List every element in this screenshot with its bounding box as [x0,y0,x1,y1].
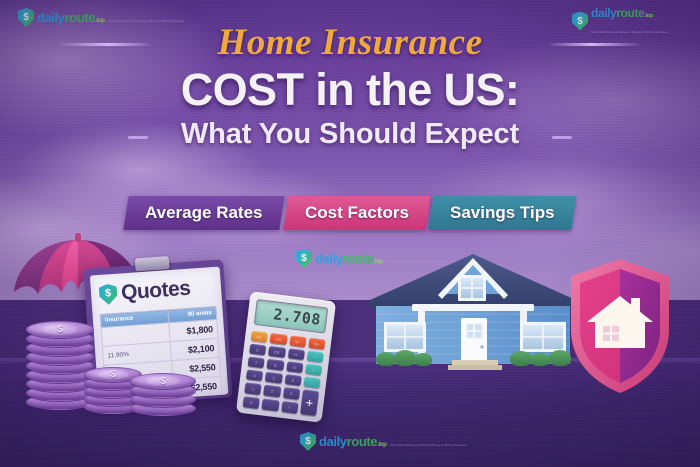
shrub-icon [414,353,432,366]
brand-tld: .top [644,13,652,19]
title-rule-left [58,43,150,46]
calculator-key-8[interactable]: 8 [267,359,284,371]
brand-name-part1: daily [591,6,616,20]
calculator-keypad: MCMRM-M+CCE+/-/789x456-123+0.= [243,331,326,416]
dollar-glyph: $ [300,433,316,452]
shield-house-icon [565,256,675,396]
title-line-3-row: What You Should Expect [0,115,700,154]
coin-symbol: $ [146,376,179,386]
title-rule-right [550,43,642,46]
page-title-secondary: COST in the US: [181,64,520,115]
clipboard-clip [135,256,170,271]
calculator-key-x[interactable]: x [305,363,322,375]
page-title-primary: Home Insurance [217,22,482,63]
title-line-2-row: COST in the US: [0,65,700,115]
brand-tld: .top [377,442,386,448]
calculator-key-[interactable]: - [303,376,320,388]
calculator-key-M[interactable]: M+ [308,338,325,350]
brand-name-part2: route [616,6,644,20]
dollar-glyph: $ [98,283,117,305]
tag-label: Average Rates [145,196,263,230]
shrub-icon [510,351,532,366]
calculator-key-0[interactable]: 0 [243,396,260,409]
calculator-key-4[interactable]: 4 [246,369,263,381]
tag-cost-factors[interactable]: Cost Factors [283,196,430,230]
calculator-key-MC[interactable]: MC [251,331,268,343]
calculator-key-7[interactable]: 7 [248,356,265,368]
coin-symbol: $ [43,324,77,335]
tag-label: Savings Tips [450,196,555,230]
dollar-glyph: $ [296,250,312,269]
title-dash-right [552,136,572,139]
calculator-key-[interactable]: . [262,399,279,412]
brand-name-part1: daily [319,434,347,449]
title-block: Home Insurance COST in the US: What You … [0,22,700,154]
brand-shield-icon: $ [98,283,117,305]
brand-name-part2: route [347,434,378,449]
brand-shield-icon: $ [296,249,312,268]
tag-label: Cost Factors [305,196,409,230]
tag-average-rates[interactable]: Average Rates [123,196,284,230]
topic-tag-bar: Average Rates Cost Factors Savings Tips [0,196,700,230]
calculator-key-CE[interactable]: CE [268,346,285,358]
calculator-illustration: 2.708 MCMRM-M+CCE+/-/789x456-123+0.= [236,291,336,423]
tag-savings-tips[interactable]: Savings Tips [429,196,577,230]
calculator-key-1[interactable]: 1 [244,382,261,395]
calculator-key-2[interactable]: 2 [263,385,280,398]
calculator-key-6[interactable]: 6 [284,374,301,386]
infographic-canvas: $ Quotes Insurance $0 areas $1,800 [0,0,700,467]
calculator-key-M[interactable]: M- [289,335,306,347]
brand-wordmark: dailyroute.top Your Daily Route to Smart… [319,434,466,450]
calculator-key-[interactable]: / [306,351,323,363]
brand-shield-icon: $ [300,432,316,451]
shrub-icon [376,352,396,366]
title-dash-left [128,136,148,139]
page-subtitle: What You Should Expect [181,118,519,150]
calculator-key-[interactable]: = [281,401,298,414]
calculator-key-[interactable]: + [300,389,319,416]
coin-stack-icon: $ [130,368,196,416]
shrub-icon [394,350,416,366]
calculator-key-3[interactable]: 3 [282,387,299,400]
calculator-key-5[interactable]: 5 [265,372,282,384]
quotes-title: Quotes [120,277,191,306]
calculator-key-C[interactable]: C [249,344,266,356]
brand-tagline: Your Daily Route to Smarter Money & Onli… [390,443,467,447]
shrub-icon [530,353,550,366]
title-line-1-row: Home Insurance [0,22,700,65]
calculator-key-[interactable]: +/- [287,348,304,360]
calculator-key-MR[interactable]: MR [270,333,287,345]
logo-watermark-bottom: $ dailyroute.top Your Daily Route to Sma… [300,432,466,451]
calculator-key-9[interactable]: 9 [286,361,303,373]
coin-symbol: $ [98,370,127,379]
brand-name-part1: daily [315,251,343,266]
